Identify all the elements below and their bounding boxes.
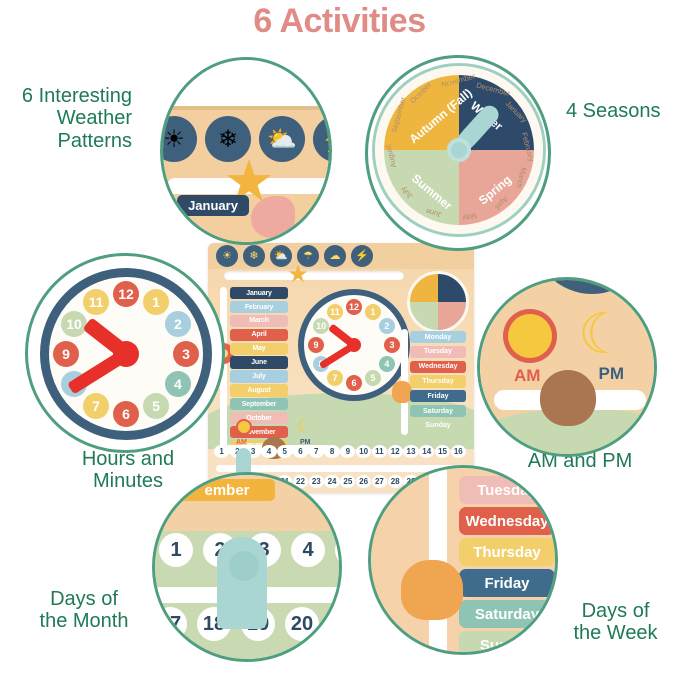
callout-clock: 121234567891011 bbox=[25, 253, 225, 453]
clock-number-4: 4 bbox=[379, 356, 395, 372]
calendar-board[interactable]: ☀❄⛅☂☁⚡ ★ JanuaryFebruaryMarchAprilMayJun… bbox=[208, 243, 474, 493]
clock-number-12: 12 bbox=[346, 299, 362, 315]
clock-number-3: 3 bbox=[384, 337, 400, 353]
dow-big-item-sunday[interactable]: Sunday bbox=[459, 631, 555, 655]
dom-big-number-5[interactable]: 5 bbox=[335, 533, 342, 567]
label-weather-line2: Weather bbox=[0, 107, 132, 129]
dow-item-thursday[interactable]: Thursday bbox=[410, 375, 466, 387]
day-number-8[interactable]: 8 bbox=[324, 445, 339, 458]
day-number-26[interactable]: 26 bbox=[356, 475, 371, 488]
month-item-july[interactable]: July bbox=[230, 370, 288, 382]
label-days-of-month: Days of the Month bbox=[8, 588, 160, 633]
month-item-september[interactable]: September bbox=[230, 398, 288, 410]
squirrel-slider-knob[interactable] bbox=[392, 381, 412, 403]
day-number-13[interactable]: 13 bbox=[403, 445, 418, 458]
sun-icon bbox=[236, 419, 252, 435]
page-title: 6 Activities bbox=[0, 2, 679, 41]
label-dom-line2: the Month bbox=[8, 610, 160, 632]
month-item-april[interactable]: April bbox=[230, 329, 288, 341]
clock-number-1: 1 bbox=[365, 304, 381, 320]
clock-face-big[interactable]: 121234567891011 bbox=[40, 268, 212, 440]
season-label-summer: Summer bbox=[409, 171, 455, 213]
dow-item-tuesday[interactable]: Tuesday bbox=[410, 346, 466, 358]
weather-slider-track[interactable] bbox=[224, 271, 404, 280]
clock-center-pin bbox=[347, 338, 361, 352]
month-item-may[interactable]: May bbox=[230, 343, 288, 355]
month-item-february[interactable]: February bbox=[230, 301, 288, 313]
season-rim-january: January bbox=[504, 99, 529, 124]
clock-number-4: 4 bbox=[165, 371, 191, 397]
season-rim-november: November bbox=[440, 71, 476, 89]
squirrel-knob-big[interactable] bbox=[401, 560, 463, 620]
clock-number-10: 10 bbox=[313, 318, 329, 334]
clock-number-10: 10 bbox=[61, 311, 87, 337]
dow-item-sunday[interactable]: Sunday bbox=[410, 420, 466, 432]
clock-number-6: 6 bbox=[346, 375, 362, 391]
clock-number-7: 7 bbox=[83, 393, 109, 419]
month-item-august[interactable]: August bbox=[230, 384, 288, 396]
dow-big-item-thursday[interactable]: Thursday bbox=[459, 538, 555, 566]
dom-big-number-17[interactable]: 17 bbox=[153, 607, 187, 641]
clock-number-9: 9 bbox=[308, 337, 324, 353]
season-wheel[interactable]: Winter Spring Summer Autumn (Fall) Decem… bbox=[375, 66, 543, 234]
clock-number-1: 1 bbox=[143, 289, 169, 315]
dow-big-item-wednesday[interactable]: Wednesday bbox=[459, 507, 555, 535]
day-number-25[interactable]: 25 bbox=[340, 475, 355, 488]
weather-callout-month-chip[interactable]: January bbox=[177, 195, 249, 216]
weather-callout-shelf bbox=[163, 106, 329, 110]
cloudy-icon[interactable]: ☁ bbox=[324, 245, 346, 267]
day-number-1[interactable]: 1 bbox=[214, 445, 229, 458]
snow-cloud-icon[interactable]: ❄ bbox=[243, 245, 265, 267]
day-number-12[interactable]: 12 bbox=[388, 445, 403, 458]
sunny-icon[interactable]: ☀ bbox=[216, 245, 238, 267]
day-number-6[interactable]: 6 bbox=[293, 445, 308, 458]
day-number-10[interactable]: 10 bbox=[356, 445, 371, 458]
season-wheel-hub bbox=[447, 138, 471, 162]
label-dow-line2: the Week bbox=[552, 622, 679, 644]
day-of-week-list[interactable]: MondayTuesdayWednesdayThursdayFridaySatu… bbox=[410, 331, 466, 434]
moon-icon-big: ☾ bbox=[578, 306, 628, 362]
clock-center-pin-big bbox=[113, 341, 139, 367]
dom-big-number-1[interactable]: 1 bbox=[159, 533, 193, 567]
moon-icon: ☾ bbox=[296, 417, 312, 435]
star-slider-knob[interactable]: ★ bbox=[286, 263, 310, 286]
dow-big-item-friday[interactable]: Friday bbox=[459, 569, 555, 597]
dow-item-wednesday[interactable]: Wednesday bbox=[410, 361, 466, 373]
dom-knob-window bbox=[229, 551, 259, 581]
clock-number-11: 11 bbox=[327, 304, 343, 320]
dom-month-chip: ember bbox=[179, 479, 275, 501]
label-days-of-week: Days of the Week bbox=[552, 600, 679, 645]
dom-big-number-21[interactable]: 21 bbox=[329, 607, 342, 641]
month-item-january[interactable]: January bbox=[230, 287, 288, 299]
pm-label-big: PM bbox=[599, 364, 625, 384]
dow-big-item-saturday[interactable]: Saturday bbox=[459, 600, 555, 628]
season-rim-august: August bbox=[383, 144, 398, 169]
season-rim-december: December bbox=[475, 80, 511, 98]
hedgehog-knob-big[interactable] bbox=[540, 370, 596, 426]
label-seasons: 4 Seasons bbox=[566, 100, 679, 122]
month-item-june[interactable]: June bbox=[230, 356, 288, 368]
board-season-wheel[interactable] bbox=[407, 271, 469, 333]
dow-item-monday[interactable]: Monday bbox=[410, 331, 466, 343]
clock-number-3: 3 bbox=[173, 341, 199, 367]
callout-weather: ☀❄⛅⚡ ★ January bbox=[160, 57, 332, 245]
am-label-big: AM bbox=[514, 366, 540, 386]
day-number-7[interactable]: 7 bbox=[309, 445, 324, 458]
callout-days-of-month: ember 12345 1718192021 bbox=[152, 472, 342, 662]
day-number-row-1[interactable]: 12345678910111213141516 bbox=[214, 445, 466, 458]
day-number-4[interactable]: 4 bbox=[261, 445, 276, 458]
callout-days-of-week: TuesdayWednesdayThursdayFridaySaturdaySu… bbox=[368, 465, 558, 655]
sun-icon-big bbox=[508, 314, 552, 358]
month-item-march[interactable]: March bbox=[230, 315, 288, 327]
dow-item-friday[interactable]: Friday bbox=[410, 390, 466, 402]
callout-seasons: Winter Spring Summer Autumn (Fall) Decem… bbox=[365, 55, 551, 251]
season-rim-may: May bbox=[462, 211, 478, 223]
label-dom-line1: Days of bbox=[8, 588, 160, 610]
day-number-15[interactable]: 15 bbox=[435, 445, 450, 458]
callout-ampm: ☾ AM PM bbox=[477, 277, 657, 457]
clock-number-5: 5 bbox=[365, 370, 381, 386]
label-weather-line1: 6 Interesting bbox=[0, 85, 132, 107]
clock-number-6: 6 bbox=[113, 401, 139, 427]
clock-number-12: 12 bbox=[113, 281, 139, 307]
season-rim-september: September bbox=[389, 96, 407, 134]
season-rim-march: March bbox=[514, 166, 528, 188]
clock-number-7: 7 bbox=[327, 370, 343, 386]
infographic-stage: 6 Activities 6 Interesting Weather Patte… bbox=[0, 0, 679, 674]
day-number-9[interactable]: 9 bbox=[340, 445, 355, 458]
season-rim-february: February bbox=[520, 131, 536, 162]
label-seasons-text: 4 Seasons bbox=[566, 100, 661, 122]
clock-number-2: 2 bbox=[379, 318, 395, 334]
season-rim-july: July bbox=[399, 185, 415, 201]
season-rim-october: October bbox=[408, 80, 433, 105]
thunderstorm-icon[interactable]: ⚡ bbox=[351, 245, 373, 267]
dow-item-saturday[interactable]: Saturday bbox=[410, 405, 466, 417]
weather-callout-top bbox=[163, 60, 329, 106]
clock-number-11: 11 bbox=[83, 289, 109, 315]
clock-number-9: 9 bbox=[53, 341, 79, 367]
day-number-16[interactable]: 16 bbox=[451, 445, 466, 458]
label-dow-line1: Days of bbox=[552, 600, 679, 622]
day-number-11[interactable]: 11 bbox=[372, 445, 387, 458]
day-number-5[interactable]: 5 bbox=[277, 445, 292, 458]
dom-big-number-20[interactable]: 20 bbox=[285, 607, 319, 641]
label-weather: 6 Interesting Weather Patterns bbox=[0, 85, 132, 152]
sunny-icon[interactable]: ☀ bbox=[160, 116, 197, 162]
dom-big-number-4[interactable]: 4 bbox=[291, 533, 325, 567]
clock-number-2: 2 bbox=[165, 311, 191, 337]
dow-big-item-tuesday[interactable]: Tuesday bbox=[459, 476, 555, 504]
clock-number-5: 5 bbox=[143, 393, 169, 419]
thunderstorm-icon[interactable]: ⚡ bbox=[313, 116, 332, 162]
day-number-14[interactable]: 14 bbox=[419, 445, 434, 458]
butterfly-decoration bbox=[251, 196, 295, 238]
label-weather-line3: Patterns bbox=[0, 130, 132, 152]
